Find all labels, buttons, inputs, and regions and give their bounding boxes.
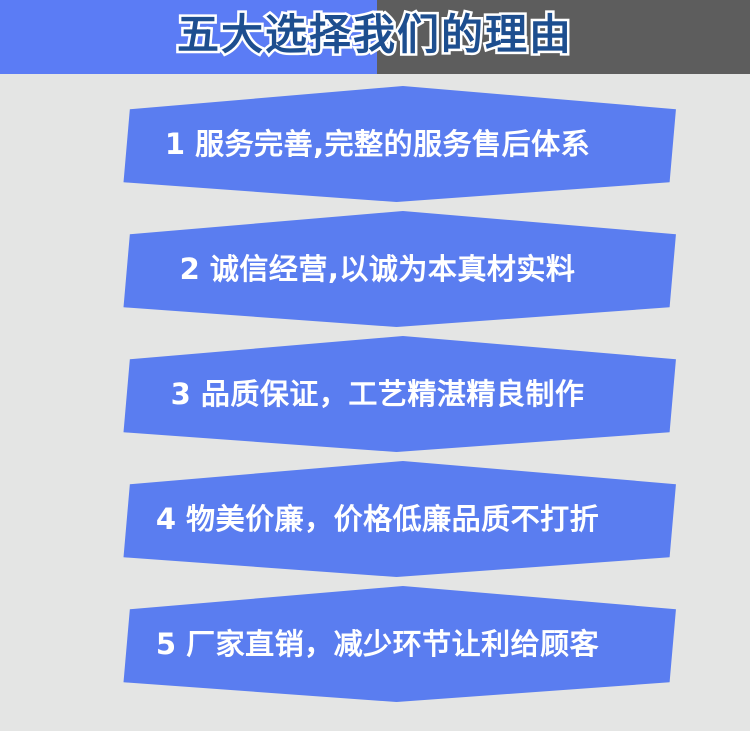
- reason-text-5: 5 厂家直销，减少环节让利给顾客: [60, 586, 695, 702]
- reasons-list: 1 服务完善,完整的服务售后体系 2 诚信经营,以诚为本真材实料 3 品质保证，…: [0, 74, 750, 731]
- reason-index-1: 1: [165, 130, 185, 159]
- reason-label-4: 物美价廉，价格低廉品质不打折: [186, 505, 599, 534]
- reason-text-1: 1 服务完善,完整的服务售后体系: [60, 86, 695, 202]
- reason-index-2: 2: [180, 255, 200, 284]
- reason-text-3: 3 品质保证，工艺精湛精良制作: [60, 336, 695, 452]
- page-title: 五大选择我们的理由: [0, 0, 750, 74]
- reason-index-3: 3: [171, 380, 191, 409]
- reason-banner-4: 4 物美价廉，价格低廉品质不打折: [60, 461, 695, 577]
- reason-text-4: 4 物美价廉，价格低廉品质不打折: [60, 461, 695, 577]
- reason-label-3: 品质保证，工艺精湛精良制作: [201, 380, 585, 409]
- reason-banner-2: 2 诚信经营,以诚为本真材实料: [60, 211, 695, 327]
- reason-label-5: 厂家直销，减少环节让利给顾客: [186, 630, 599, 659]
- reason-banner-1: 1 服务完善,完整的服务售后体系: [60, 86, 695, 202]
- reason-text-2: 2 诚信经营,以诚为本真材实料: [60, 211, 695, 327]
- reason-label-2: 诚信经营,以诚为本真材实料: [210, 255, 576, 284]
- promo-page: 五大选择我们的理由 1 服务完善,完整的服务售后体系 2 诚信经营,以诚为本真材…: [0, 0, 750, 731]
- reason-index-5: 5: [156, 630, 176, 659]
- reason-label-1: 服务完善,完整的服务售后体系: [195, 130, 590, 159]
- reason-index-4: 4: [156, 505, 176, 534]
- header-band: 五大选择我们的理由: [0, 0, 750, 74]
- reason-banner-3: 3 品质保证，工艺精湛精良制作: [60, 336, 695, 452]
- reason-banner-5: 5 厂家直销，减少环节让利给顾客: [60, 586, 695, 702]
